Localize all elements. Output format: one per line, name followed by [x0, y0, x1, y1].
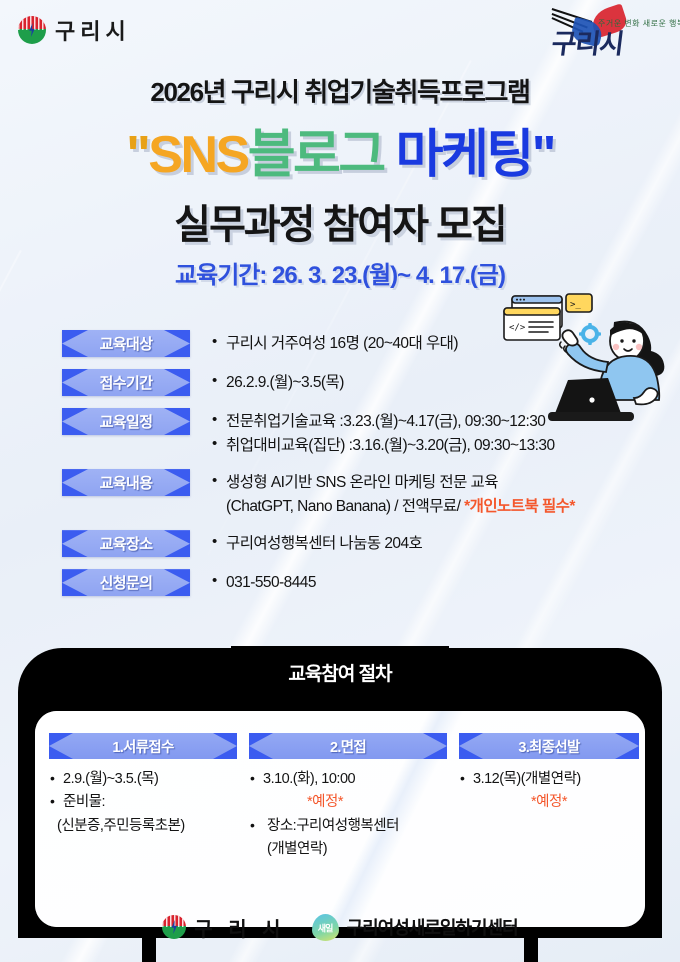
- info-badge-curriculum: 교육내용: [62, 469, 190, 496]
- process-step-line: 준비물:: [49, 791, 237, 814]
- title-period: 교육기간: 26. 3. 23.(월)~ 4. 17.(금): [0, 255, 680, 290]
- info-value-line: 취업대비교육(집단) :3.16.(월)~3.20(금), 09:30~13:3…: [212, 434, 555, 458]
- info-value-line: 031-550-8445: [212, 571, 316, 595]
- info-values: 전문취업기술교육 :3.23.(월)~4.17(금), 09:30~12:30 …: [212, 408, 555, 457]
- info-badge-location: 교육장소: [62, 530, 190, 557]
- footer-city-label: 구 리 시: [194, 913, 285, 942]
- title-word-marketing: 마케팅: [384, 126, 532, 184]
- info-value-line: 26.2.9.(월)~3.5(목): [212, 371, 344, 395]
- process-steps: 1.서류접수 2.9.(월)~3.5.(목) 준비물: (신분증,주민등록초본)…: [35, 711, 645, 927]
- footer-center-label: 구리여성새로일하기센터: [347, 914, 518, 940]
- info-row: 교육일정 전문취업기술교육 :3.23.(월)~4.17(금), 09:30~1…: [0, 408, 680, 457]
- info-value-text: (ChatGPT, Nano Banana) / 전액무료/: [226, 498, 464, 515]
- info-badge-application-period: 접수기간: [62, 369, 190, 396]
- brand-logo-label: 구리시: [550, 22, 626, 61]
- info-badge-label: 교육내용: [100, 472, 153, 493]
- emblem-rays: [162, 915, 186, 927]
- footer-city-logo: 구 리 시: [162, 913, 285, 942]
- info-badge-schedule: 교육일정: [62, 408, 190, 435]
- info-row: 신청문의 031-550-8445: [0, 569, 680, 596]
- poster-footer: 구 리 시 구리여성새로일하기센터: [0, 902, 680, 952]
- info-badge-label: 교육대상: [100, 333, 153, 354]
- process-step-line: (개별연락): [249, 838, 447, 861]
- process-step-badge-3: 3.최종선발: [459, 733, 639, 759]
- process-step-label: 2.면접: [330, 736, 366, 757]
- process-step: 2.면접 3.10.(화), 10:00 *예정* 장소:구리여성행복센터 (개…: [243, 733, 453, 927]
- svg-text:>_: >_: [570, 300, 581, 310]
- info-value-line: 구리여성행복센터 나눔동 204호: [212, 532, 422, 556]
- guri-city-emblem-icon: [18, 16, 46, 44]
- info-row: 교육장소 구리여성행복센터 나눔동 204호: [0, 530, 680, 557]
- title-quote-close: ": [532, 126, 554, 184]
- process-step-label: 3.최종선발: [518, 736, 579, 757]
- process-frame: 교육참여 절차 1.서류접수 2.9.(월)~3.5.(목) 준비물: (신분증…: [18, 648, 662, 938]
- title-kicker: 2026년 구리시 취업기술취득프로그램: [0, 72, 680, 109]
- info-values: 구리여성행복센터 나눔동 204호: [212, 530, 422, 556]
- guri-city-emblem-icon: [162, 915, 186, 939]
- city-logo-label: 구리시: [55, 14, 131, 46]
- info-value-line: 구리시 거주여성 16명 (20~40대 우대): [212, 332, 458, 356]
- process-step-label: 1.서류접수: [112, 736, 173, 757]
- title-quote-open: ": [126, 126, 148, 184]
- info-values: 구리시 거주여성 16명 (20~40대 우대): [212, 330, 458, 356]
- process-step-badge-2: 2.면접: [249, 733, 447, 759]
- info-row: 교육내용 생성형 AI기반 SNS 온라인 마케팅 전문 교육 (ChatGPT…: [0, 469, 680, 518]
- process-step-line: 3.10.(화), 10:00: [249, 768, 447, 791]
- city-logo-left: 구리시: [18, 14, 131, 46]
- footer-center-logo: 구리여성새로일하기센터: [312, 914, 518, 941]
- info-badge-education-target: 교육대상: [62, 330, 190, 357]
- process-step-line: 2.9.(월)~3.5.(목): [49, 768, 237, 791]
- title-main: "SNS블로그 마케팅": [0, 112, 680, 187]
- process-header-tab: 교육참여 절차: [231, 646, 449, 702]
- info-value-line: 생성형 AI기반 SNS 온라인 마케팅 전문 교육: [212, 471, 575, 495]
- process-step-line: 3.12(목)(개별연락): [459, 768, 639, 791]
- guri-brand-logo: 주거운 변화 새로운 행복 구리시: [546, 6, 666, 58]
- info-value-line: (ChatGPT, Nano Banana) / 전액무료/ *개인노트북 필수…: [212, 495, 575, 519]
- info-values: 031-550-8445: [212, 569, 316, 595]
- info-row: 접수기간 26.2.9.(월)~3.5(목): [0, 369, 680, 396]
- process-step-badge-1: 1.서류접수: [49, 733, 237, 759]
- info-badge-label: 접수기간: [100, 372, 153, 393]
- info-value-line: 전문취업기술교육 :3.23.(월)~4.17(금), 09:30~12:30: [212, 410, 555, 434]
- emblem-rays: [18, 16, 46, 30]
- info-values: 26.2.9.(월)~3.5(목): [212, 369, 344, 395]
- process-step-line: (신분증,주민등록초본): [49, 815, 237, 838]
- info-badge-label: 교육일정: [100, 411, 153, 432]
- info-badge-contact: 신청문의: [62, 569, 190, 596]
- process-step: 3.최종선발 3.12(목)(개별연락) *예정*: [453, 733, 645, 927]
- process-step-note: *예정*: [459, 791, 639, 814]
- process-step-note: *예정*: [249, 791, 447, 814]
- title-subtitle: 실무과정 참여자 모집: [0, 192, 680, 250]
- process-step-line: 장소:구리여성행복센터: [249, 815, 447, 838]
- title-word-blog: 블로그: [248, 126, 384, 184]
- poster-header: 구리시 주거운 변화 새로운 행복 구리시: [0, 0, 680, 62]
- process-step: 1.서류접수 2.9.(월)~3.5.(목) 준비물: (신분증,주민등록초본): [43, 733, 243, 927]
- info-row: 교육대상 구리시 거주여성 16명 (20~40대 우대): [0, 330, 680, 357]
- title-word-sns: SNS: [148, 126, 247, 184]
- info-section: 교육대상 구리시 거주여성 16명 (20~40대 우대) 접수기간 26.2.…: [0, 330, 680, 599]
- info-badge-label: 교육장소: [100, 533, 153, 554]
- poster-canvas: 구리시 주거운 변화 새로운 행복 구리시 2026년 구리시 취업기술취득프로…: [0, 0, 680, 962]
- info-badge-label: 신청문의: [100, 572, 153, 593]
- saeil-center-icon: [312, 914, 339, 941]
- info-values: 생성형 AI기반 SNS 온라인 마케팅 전문 교육 (ChatGPT, Nan…: [212, 469, 575, 518]
- process-header-label: 교육참여 절차: [288, 659, 391, 686]
- info-value-warning: *개인노트북 필수*: [464, 498, 575, 515]
